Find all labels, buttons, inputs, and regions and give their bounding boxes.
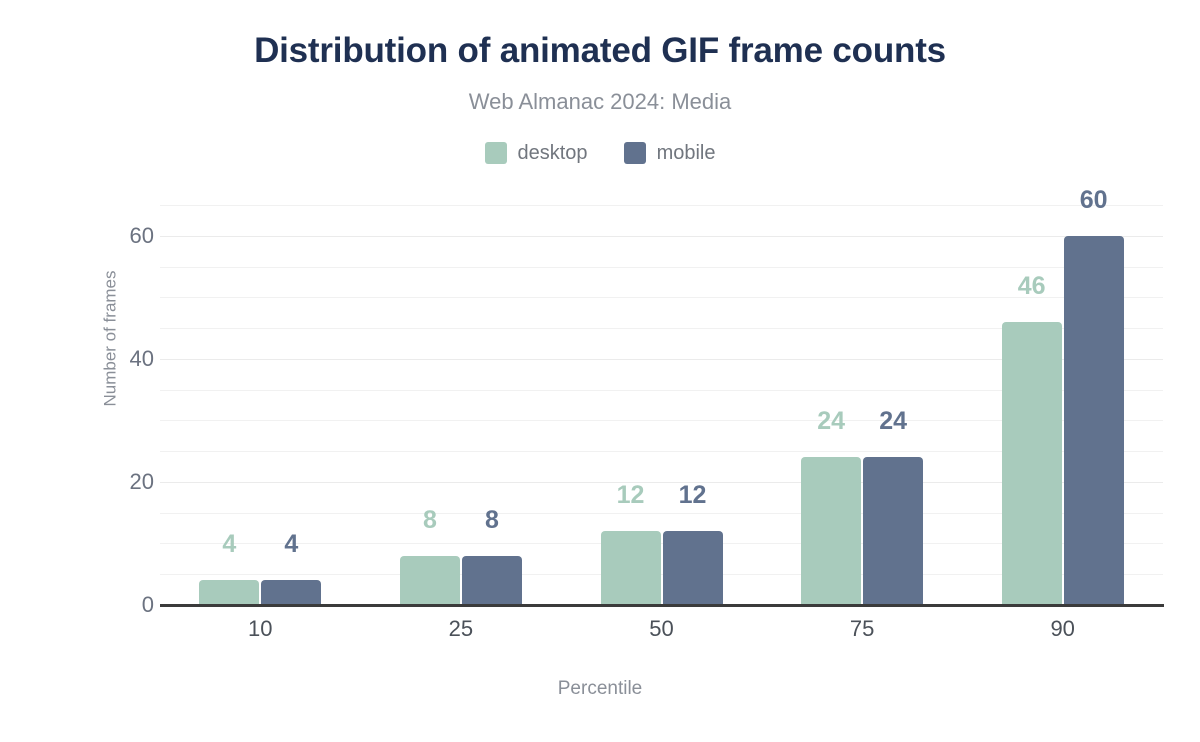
gridline-minor — [160, 267, 1163, 268]
bar-value-label-mobile-90: 60 — [1054, 188, 1134, 213]
legend-swatch-mobile — [624, 142, 646, 164]
bar-desktop-25[interactable] — [400, 556, 460, 605]
bar-mobile-75[interactable] — [863, 457, 923, 605]
x-axis-title: Percentile — [0, 679, 1200, 698]
bar-mobile-50[interactable] — [663, 531, 723, 605]
bar-value-label-mobile-10: 4 — [251, 532, 331, 557]
chart-legend: desktop mobile — [0, 142, 1200, 164]
bar-mobile-90[interactable] — [1064, 236, 1124, 605]
y-tick-label: 60 — [34, 225, 154, 247]
gridline-major — [160, 236, 1163, 237]
gridline-minor — [160, 205, 1163, 206]
legend-item-desktop[interactable]: desktop — [485, 142, 588, 164]
bar-desktop-75[interactable] — [801, 457, 861, 605]
bar-value-label-mobile-75: 24 — [853, 409, 933, 434]
legend-label-mobile: mobile — [657, 143, 716, 163]
bar-value-label-mobile-50: 12 — [653, 483, 733, 508]
legend-item-mobile[interactable]: mobile — [624, 142, 716, 164]
chart-subtitle: Web Almanac 2024: Media — [0, 89, 1200, 115]
bar-desktop-10[interactable] — [199, 580, 259, 605]
bar-value-label-desktop-90: 46 — [992, 274, 1072, 299]
y-tick-label: 0 — [34, 594, 154, 616]
legend-label-desktop: desktop — [518, 143, 588, 163]
plot-area: 4488121224244660 — [160, 205, 1163, 605]
y-axis-title: Number of frames — [102, 209, 119, 469]
bar-value-label-mobile-25: 8 — [452, 508, 532, 533]
x-tick-label: 25 — [401, 618, 521, 640]
x-tick-label: 90 — [1003, 618, 1123, 640]
bar-desktop-90[interactable] — [1002, 322, 1062, 605]
y-tick-label: 40 — [34, 348, 154, 370]
chart-title: Distribution of animated GIF frame count… — [0, 32, 1200, 71]
x-axis-line — [160, 604, 1164, 607]
bar-desktop-50[interactable] — [601, 531, 661, 605]
bar-mobile-10[interactable] — [261, 580, 321, 605]
y-tick-label: 20 — [34, 471, 154, 493]
bar-mobile-25[interactable] — [462, 556, 522, 605]
x-tick-label: 10 — [200, 618, 320, 640]
legend-swatch-desktop — [485, 142, 507, 164]
x-tick-label: 50 — [602, 618, 722, 640]
chart-container: Distribution of animated GIF frame count… — [0, 0, 1200, 742]
x-tick-label: 75 — [802, 618, 922, 640]
